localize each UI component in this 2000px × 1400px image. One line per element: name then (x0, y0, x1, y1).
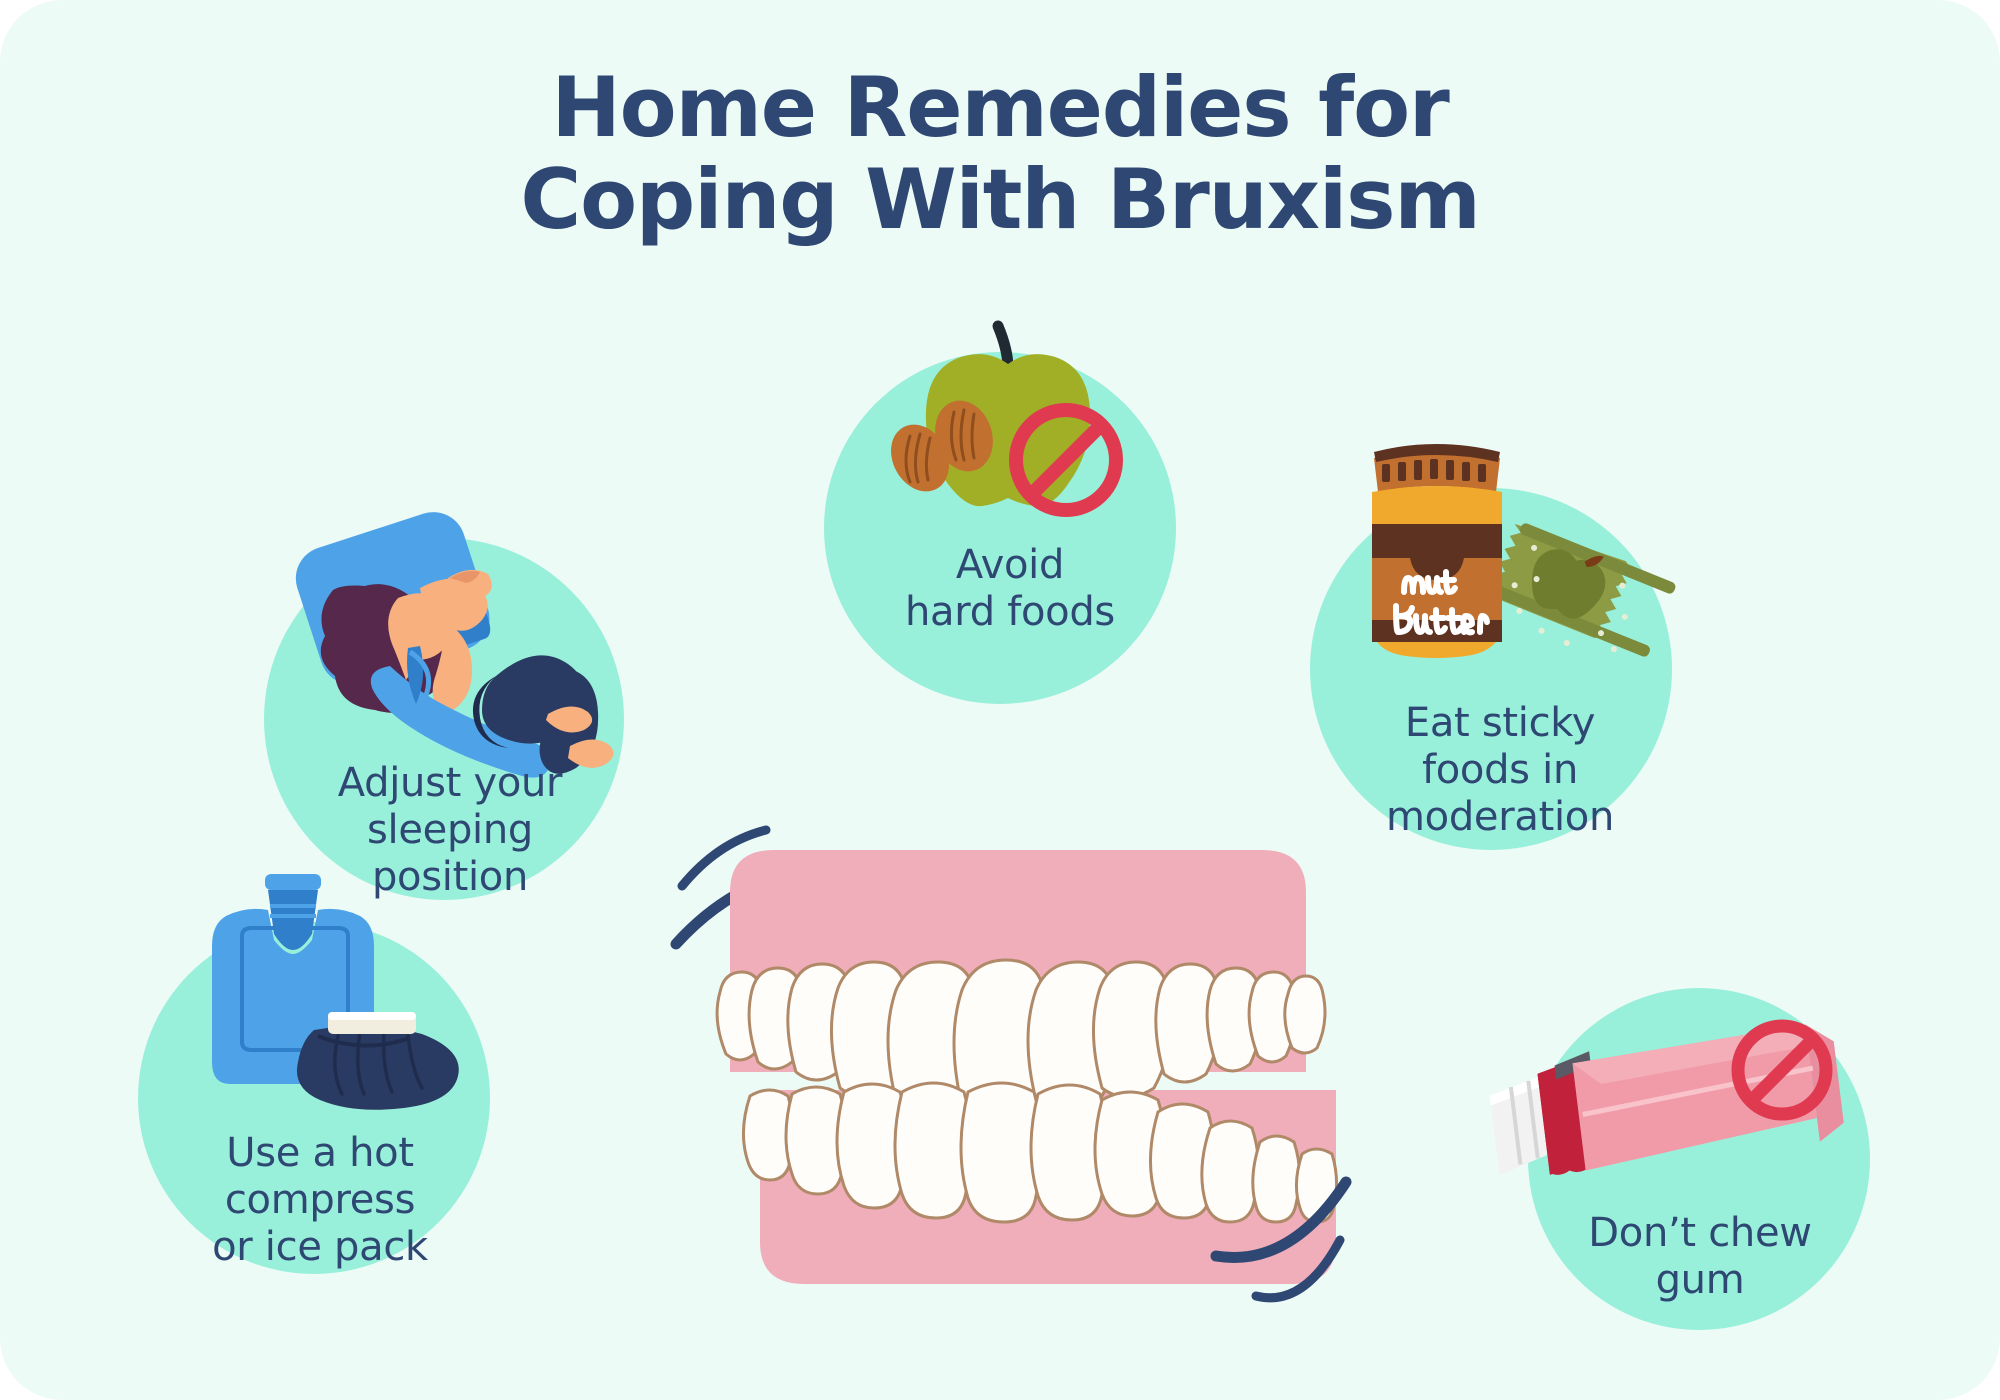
apple-almonds-prohibited-icon (860, 320, 1170, 550)
remedy-label-no-gum: Don’t chew gum (1500, 1210, 1900, 1304)
nut-butter-jar-granola-bar-icon (1360, 420, 1700, 710)
grinding-teeth-illustration (640, 790, 1380, 1310)
page-title-line-2: Coping With Bruxism (0, 154, 2000, 246)
remedy-card-sleeping-position[interactable]: Adjust your sleeping position (250, 470, 650, 900)
remedy-card-no-gum[interactable]: Don’t chew gum (1500, 980, 1900, 1340)
remedy-label-hot-compress: Use a hot compress or ice pack (120, 1130, 520, 1270)
chewing-gum-pack-prohibited-icon (1475, 1010, 1895, 1210)
remedy-card-hot-compress[interactable]: Use a hot compress or ice pack (120, 860, 520, 1280)
remedy-card-avoid-hard-foods[interactable]: Avoid hard foods (820, 320, 1200, 720)
person-sleeping-side-icon (270, 470, 630, 770)
remedy-label-avoid-hard-foods: Avoid hard foods (820, 542, 1200, 636)
page-title: Home Remedies for Coping With Bruxism (0, 62, 2000, 246)
infographic-canvas: Home Remedies for Coping With Bruxism (0, 0, 2000, 1400)
page-title-line-1: Home Remedies for (0, 62, 2000, 154)
hot-water-bottle-ice-pack-icon (160, 860, 490, 1130)
